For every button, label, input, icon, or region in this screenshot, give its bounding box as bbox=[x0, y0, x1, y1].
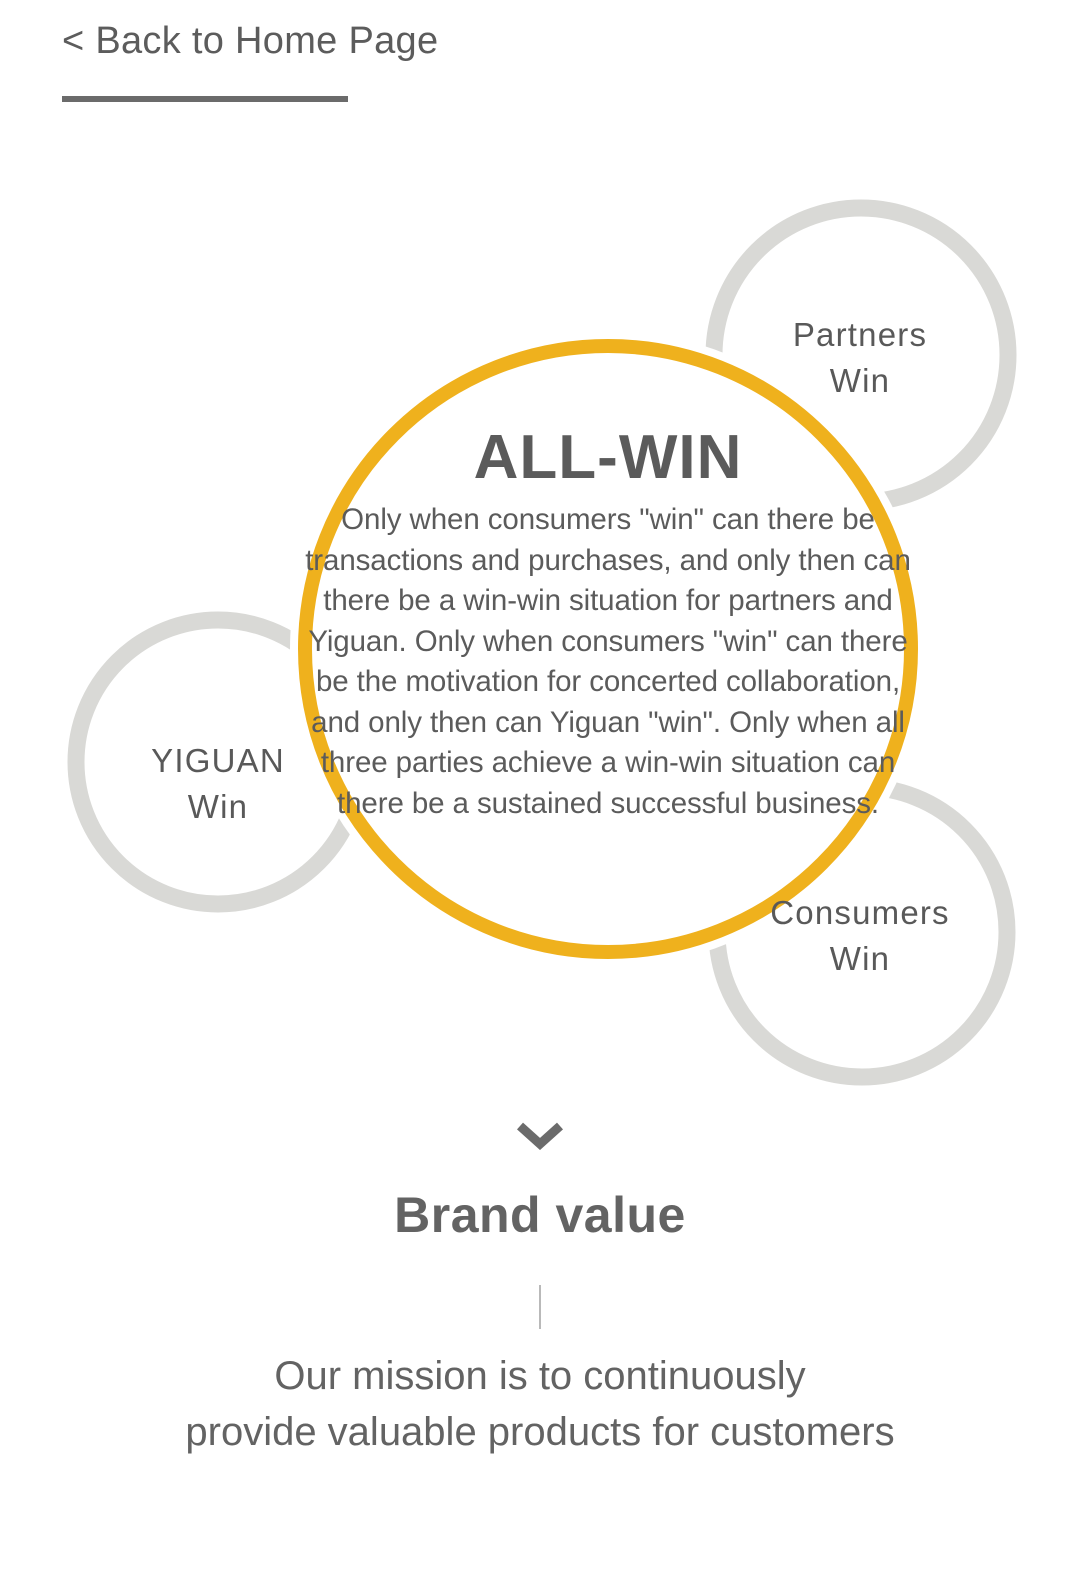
all-win-diagram: Partners Win YIGUAN Win Consumers Win AL… bbox=[0, 140, 1080, 1100]
all-win-title: ALL-WIN bbox=[474, 426, 743, 490]
header-underline-rule bbox=[62, 96, 348, 102]
all-win-description: Only when consumers "win" can there be t… bbox=[303, 500, 913, 824]
back-to-home-nav: < Back to Home Page bbox=[62, 18, 582, 66]
chevron-down-icon bbox=[517, 1122, 563, 1150]
brand-value-heading: Brand value bbox=[0, 1182, 1080, 1248]
back-to-home-link[interactable]: < Back to Home Page bbox=[62, 18, 438, 66]
brand-mission-text: Our mission is to continuously provide v… bbox=[0, 1348, 1080, 1460]
brand-value-divider bbox=[539, 1285, 541, 1329]
scroll-down-indicator[interactable] bbox=[0, 1122, 1080, 1155]
all-win-core: ALL-WIN Only when consumers "win" can th… bbox=[303, 350, 913, 960]
